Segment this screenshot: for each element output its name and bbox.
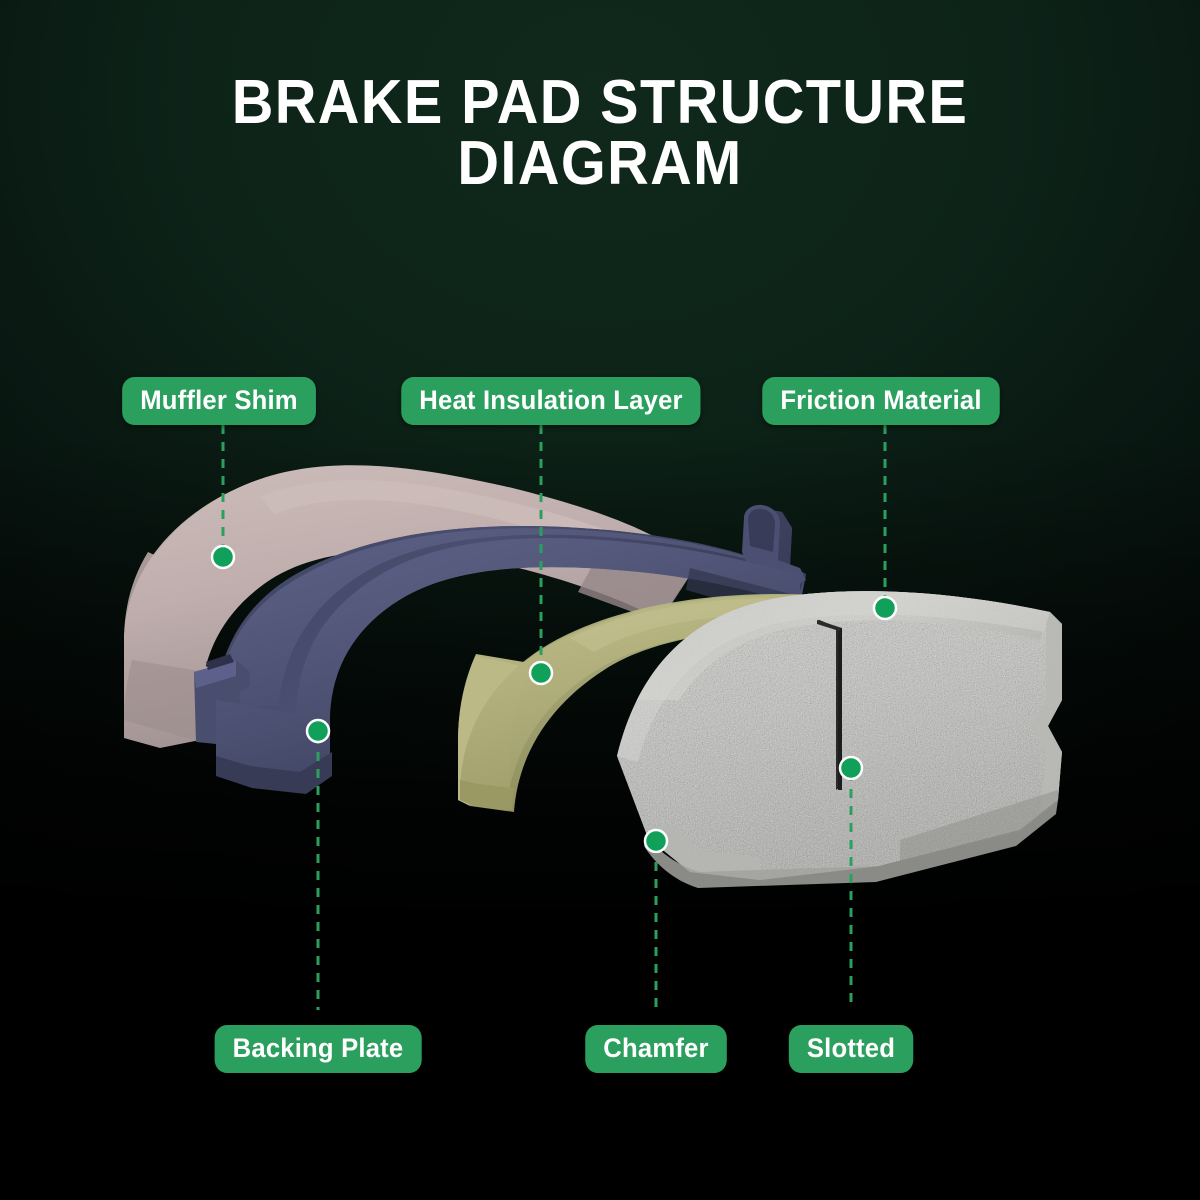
label-heat-insulation-layer[interactable]: Heat Insulation Layer	[401, 377, 701, 425]
title-line-2: DIAGRAM	[42, 133, 1158, 194]
label-muffler-shim[interactable]: Muffler Shim	[122, 377, 316, 425]
page-title: BRAKE PAD STRUCTURE DIAGRAM	[0, 72, 1200, 195]
title-line-1: BRAKE PAD STRUCTURE	[42, 72, 1158, 133]
label-chamfer[interactable]: Chamfer	[585, 1025, 726, 1073]
label-slotted[interactable]: Slotted	[789, 1025, 913, 1073]
label-friction-material[interactable]: Friction Material	[762, 377, 999, 425]
label-backing-plate[interactable]: Backing Plate	[215, 1025, 422, 1073]
diagram-canvas: BRAKE PAD STRUCTURE DIAGRAM Muffler Shim…	[0, 0, 1200, 1200]
